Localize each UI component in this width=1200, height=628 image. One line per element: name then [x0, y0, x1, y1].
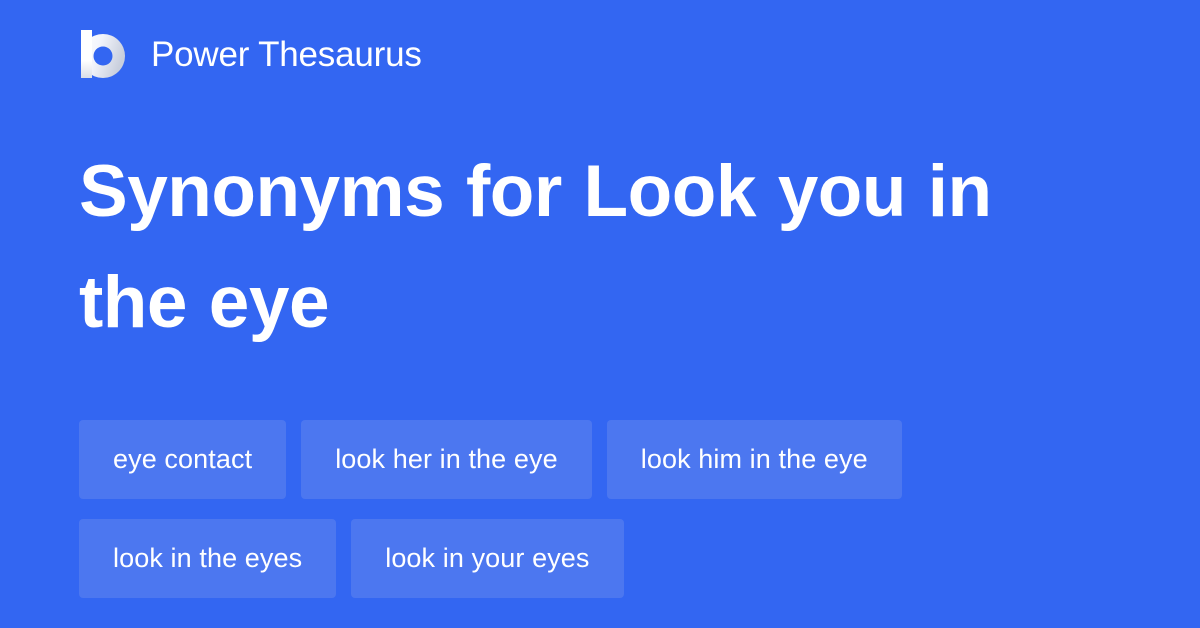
- page-title: Synonyms for Look you in the eye: [79, 136, 1119, 358]
- synonym-chip[interactable]: look him in the eye: [607, 420, 902, 499]
- synonym-chip[interactable]: look in your eyes: [351, 519, 623, 598]
- synonym-chip-list: eye contact look her in the eye look him…: [79, 420, 1129, 598]
- brand-name: Power Thesaurus: [151, 37, 422, 72]
- brand-header[interactable]: Power Thesaurus: [79, 28, 422, 80]
- synonym-chip[interactable]: look in the eyes: [79, 519, 336, 598]
- power-thesaurus-logo-icon: [79, 28, 129, 80]
- synonym-chip[interactable]: look her in the eye: [301, 420, 592, 499]
- page-root: Power Thesaurus Synonyms for Look you in…: [0, 0, 1200, 628]
- synonym-chip[interactable]: eye contact: [79, 420, 286, 499]
